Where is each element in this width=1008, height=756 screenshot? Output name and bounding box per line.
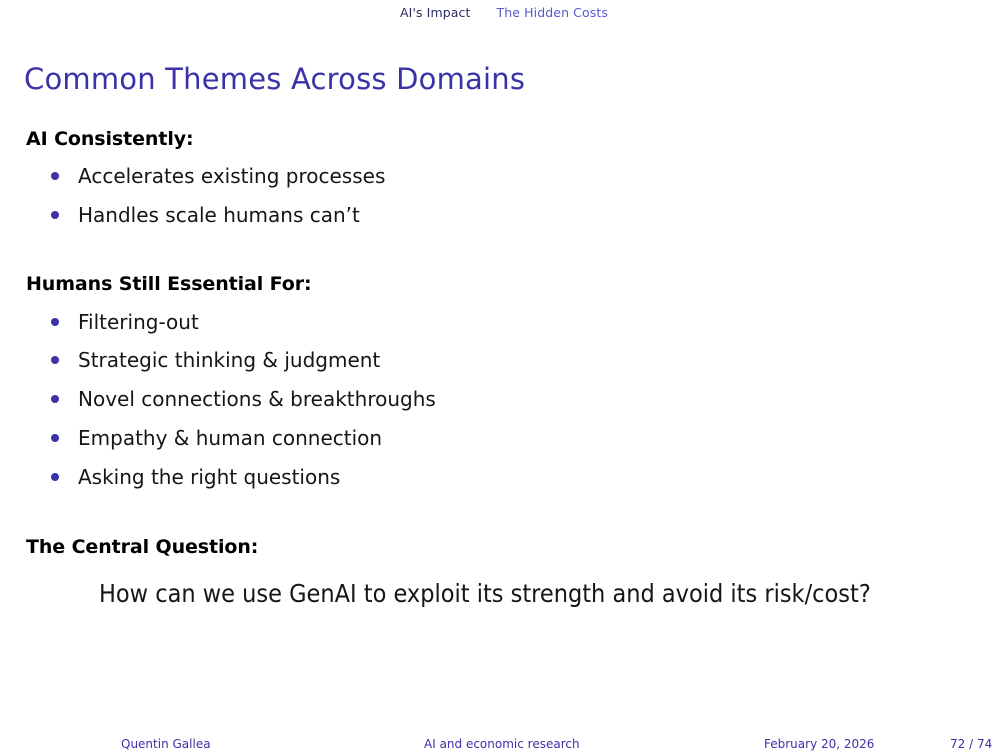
section-heading-ai-consistently: AI Consistently: bbox=[0, 128, 1008, 151]
bullet-dot-icon bbox=[51, 318, 59, 326]
section-ai-consistently: AI Consistently: Accelerates existing pr… bbox=[0, 128, 1008, 234]
slide-canvas: AI's Impact The Hidden Costs Common Them… bbox=[0, 0, 1008, 756]
list-item-label: Accelerates existing processes bbox=[78, 166, 385, 186]
list-item-label: Filtering-out bbox=[78, 312, 199, 332]
footer-date: February 20, 2026 bbox=[764, 738, 874, 750]
footer-author: Quentin Gallea bbox=[121, 738, 211, 750]
bullet-dot-icon bbox=[51, 172, 59, 180]
list-item: Accelerates existing processes bbox=[0, 157, 1008, 196]
headline-navigation-bar: AI's Impact The Hidden Costs bbox=[0, 0, 1008, 26]
list-item: Strategic thinking & judgment bbox=[0, 341, 1008, 380]
central-question-text: How can we use GenAI to exploit its stre… bbox=[0, 580, 1008, 609]
footer-page-number: 72 / 74 bbox=[950, 738, 992, 750]
section-humans-still-essential-for: Humans Still Essential For: Filtering-ou… bbox=[0, 273, 1008, 496]
list-item: Filtering-out bbox=[0, 302, 1008, 341]
nav-item-the-hidden-costs[interactable]: The Hidden Costs bbox=[497, 7, 608, 20]
bullet-dot-icon bbox=[51, 434, 59, 442]
spacer bbox=[0, 559, 1008, 580]
slide-body: AI Consistently: Accelerates existing pr… bbox=[0, 128, 1008, 609]
bullet-dot-icon bbox=[51, 356, 59, 364]
footline: Quentin Gallea AI and economic research … bbox=[0, 726, 1008, 756]
list-item: Asking the right questions bbox=[0, 457, 1008, 496]
list-item: Novel connections & breakthroughs bbox=[0, 380, 1008, 419]
list-item-label: Novel connections & breakthroughs bbox=[78, 389, 436, 409]
nav-item-ais-impact[interactable]: AI's Impact bbox=[400, 7, 471, 20]
section-heading-the-central-question: The Central Question: bbox=[0, 536, 1008, 559]
list-item: Handles scale humans can’t bbox=[0, 196, 1008, 235]
list-item-label: Handles scale humans can’t bbox=[78, 205, 360, 225]
section-heading-humans-still-essential-for: Humans Still Essential For: bbox=[0, 273, 1008, 296]
list-item: Empathy & human connection bbox=[0, 419, 1008, 458]
bullet-list-humans-still-essential-for: Filtering-out Strategic thinking & judgm… bbox=[0, 302, 1008, 496]
bullet-dot-icon bbox=[51, 395, 59, 403]
spacer bbox=[0, 496, 1008, 536]
bullet-dot-icon bbox=[51, 473, 59, 481]
frame-title: Common Themes Across Domains bbox=[24, 64, 525, 96]
list-item-label: Asking the right questions bbox=[78, 467, 340, 487]
footer-presentation-title: AI and economic research bbox=[424, 738, 580, 750]
bullet-list-ai-consistently: Accelerates existing processes Handles s… bbox=[0, 157, 1008, 235]
bullet-dot-icon bbox=[51, 211, 59, 219]
spacer bbox=[0, 234, 1008, 273]
section-the-central-question: The Central Question: How can we use Gen… bbox=[0, 536, 1008, 609]
list-item-label: Strategic thinking & judgment bbox=[78, 350, 380, 370]
list-item-label: Empathy & human connection bbox=[78, 428, 382, 448]
